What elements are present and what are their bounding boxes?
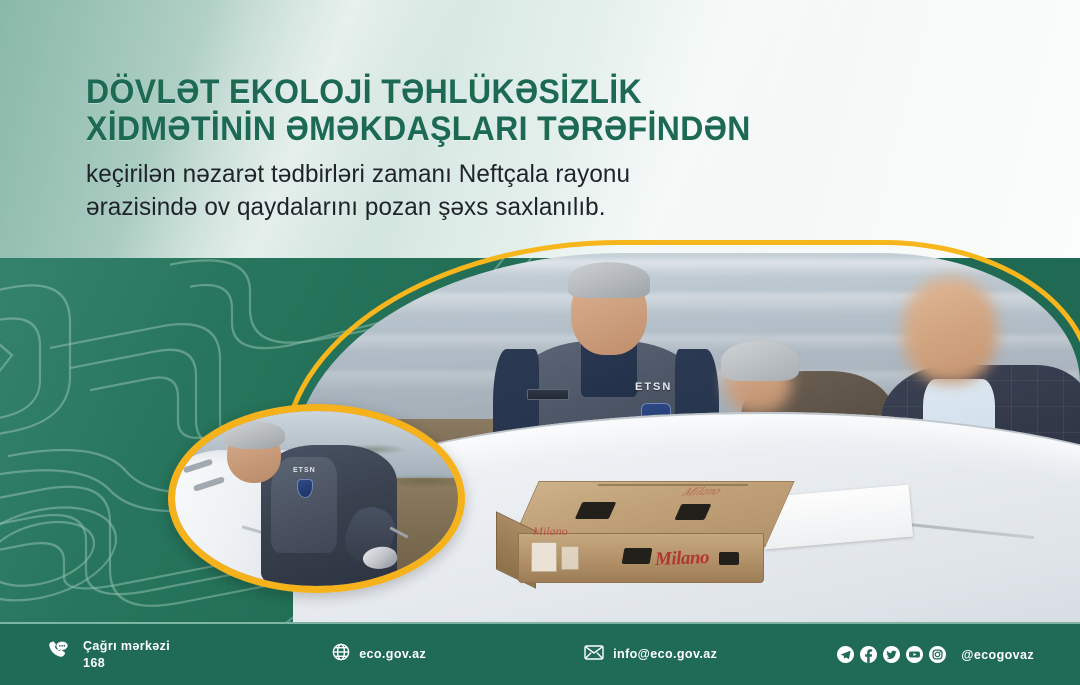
box-vent-hole	[719, 552, 739, 565]
phone-chat-icon	[48, 641, 74, 668]
box-brand-small: Milano	[533, 524, 573, 538]
footer-call-center[interactable]: Çağrı mərkəzi 168	[48, 638, 170, 672]
call-center-number: 168	[83, 655, 170, 672]
poster-canvas: DÖVLƏT EKOLOJİ TƏHLÜKƏSİZLİK XİDMƏTİNİN …	[0, 0, 1080, 685]
telegram-icon[interactable]	[837, 646, 854, 663]
subhead-line-2: ərazisində ov qaydalarını pozan şəxs sax…	[86, 191, 959, 224]
envelope-icon	[584, 645, 604, 665]
box-vent-hole	[575, 502, 617, 519]
etsn-vest-text: ETSN	[635, 381, 672, 393]
footer-email[interactable]: info@eco.gov.az	[584, 645, 717, 665]
footer-website[interactable]: eco.gov.az	[332, 643, 426, 666]
cloud-band	[293, 259, 1080, 277]
writer-hair	[721, 341, 799, 381]
facebook-icon[interactable]	[860, 646, 877, 663]
instagram-icon[interactable]	[929, 646, 946, 663]
footer-contact-bar: Çağrı mərkəzi 168 eco.gov.az	[0, 622, 1080, 685]
headline-block: DÖVLƏT EKOLOJİ TƏHLÜKƏSİZLİK XİDMƏTİNİN …	[86, 74, 986, 224]
youtube-icon[interactable]	[906, 646, 923, 663]
twitter-icon[interactable]	[883, 646, 900, 663]
footer-call-center-text: Çağrı mərkəzi 168	[83, 638, 170, 672]
box-sticker	[531, 542, 557, 572]
suited-man-head-blurred	[903, 277, 997, 383]
globe-icon	[332, 643, 350, 666]
headline-line-2: XİDMƏTİNİN ƏMƏKDAŞLARI TƏRƏFİNDƏN	[86, 111, 932, 148]
social-handle: @ecogovaz	[961, 648, 1034, 662]
call-center-label: Çağrı mərkəzi	[83, 639, 170, 653]
box-front-face: Milano Milano	[518, 533, 764, 583]
inset-photo: ETSN	[168, 404, 465, 593]
page-subtitle: keçirilən nəzarət tədbirləri zamanı Neft…	[86, 158, 959, 224]
inset-photo-yellow-ring	[168, 404, 465, 593]
social-icon-row	[837, 646, 946, 663]
box-tape-line	[597, 484, 748, 486]
email-label: info@eco.gov.az	[613, 646, 717, 663]
officer-nametag	[527, 389, 569, 400]
cardboard-box: Milano Milano Milano	[518, 481, 786, 587]
footer-social: @ecogovaz	[837, 646, 1034, 663]
box-vent-hole	[674, 504, 711, 520]
box-vent-hole	[622, 548, 653, 564]
box-brand-label: Milano	[655, 547, 710, 571]
page-title: DÖVLƏT EKOLOJİ TƏHLÜKƏSİZLİK XİDMƏTİNİN …	[86, 74, 932, 149]
subhead-line-1: keçirilən nəzarət tədbirləri zamanı Neft…	[86, 160, 630, 188]
box-sticker	[561, 546, 579, 570]
headline-line-1: DÖVLƏT EKOLOJİ TƏHLÜKƏSİZLİK	[86, 73, 642, 111]
website-label: eco.gov.az	[359, 646, 426, 663]
officer-hair	[568, 262, 650, 298]
